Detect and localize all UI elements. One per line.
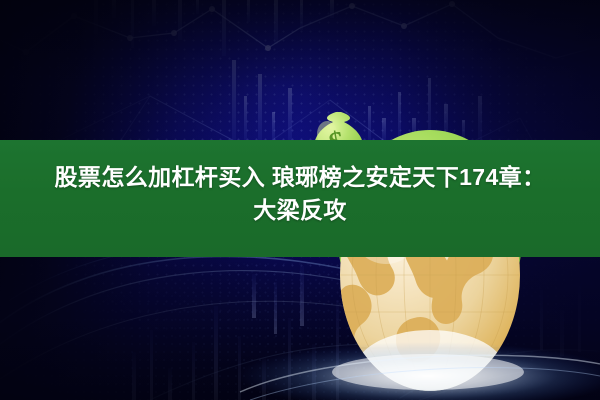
page-title-line-2: 大梁反攻 bbox=[14, 194, 586, 227]
page-title: 股票怎么加杠杆买入 琅琊榜之安定天下174章： 大梁反攻 bbox=[0, 161, 600, 226]
bottom-glow bbox=[238, 342, 600, 400]
banner-image: $ $ bbox=[0, 0, 600, 400]
page-title-line-1: 股票怎么加杠杆买入 琅琊榜之安定天下174章： bbox=[14, 161, 586, 194]
